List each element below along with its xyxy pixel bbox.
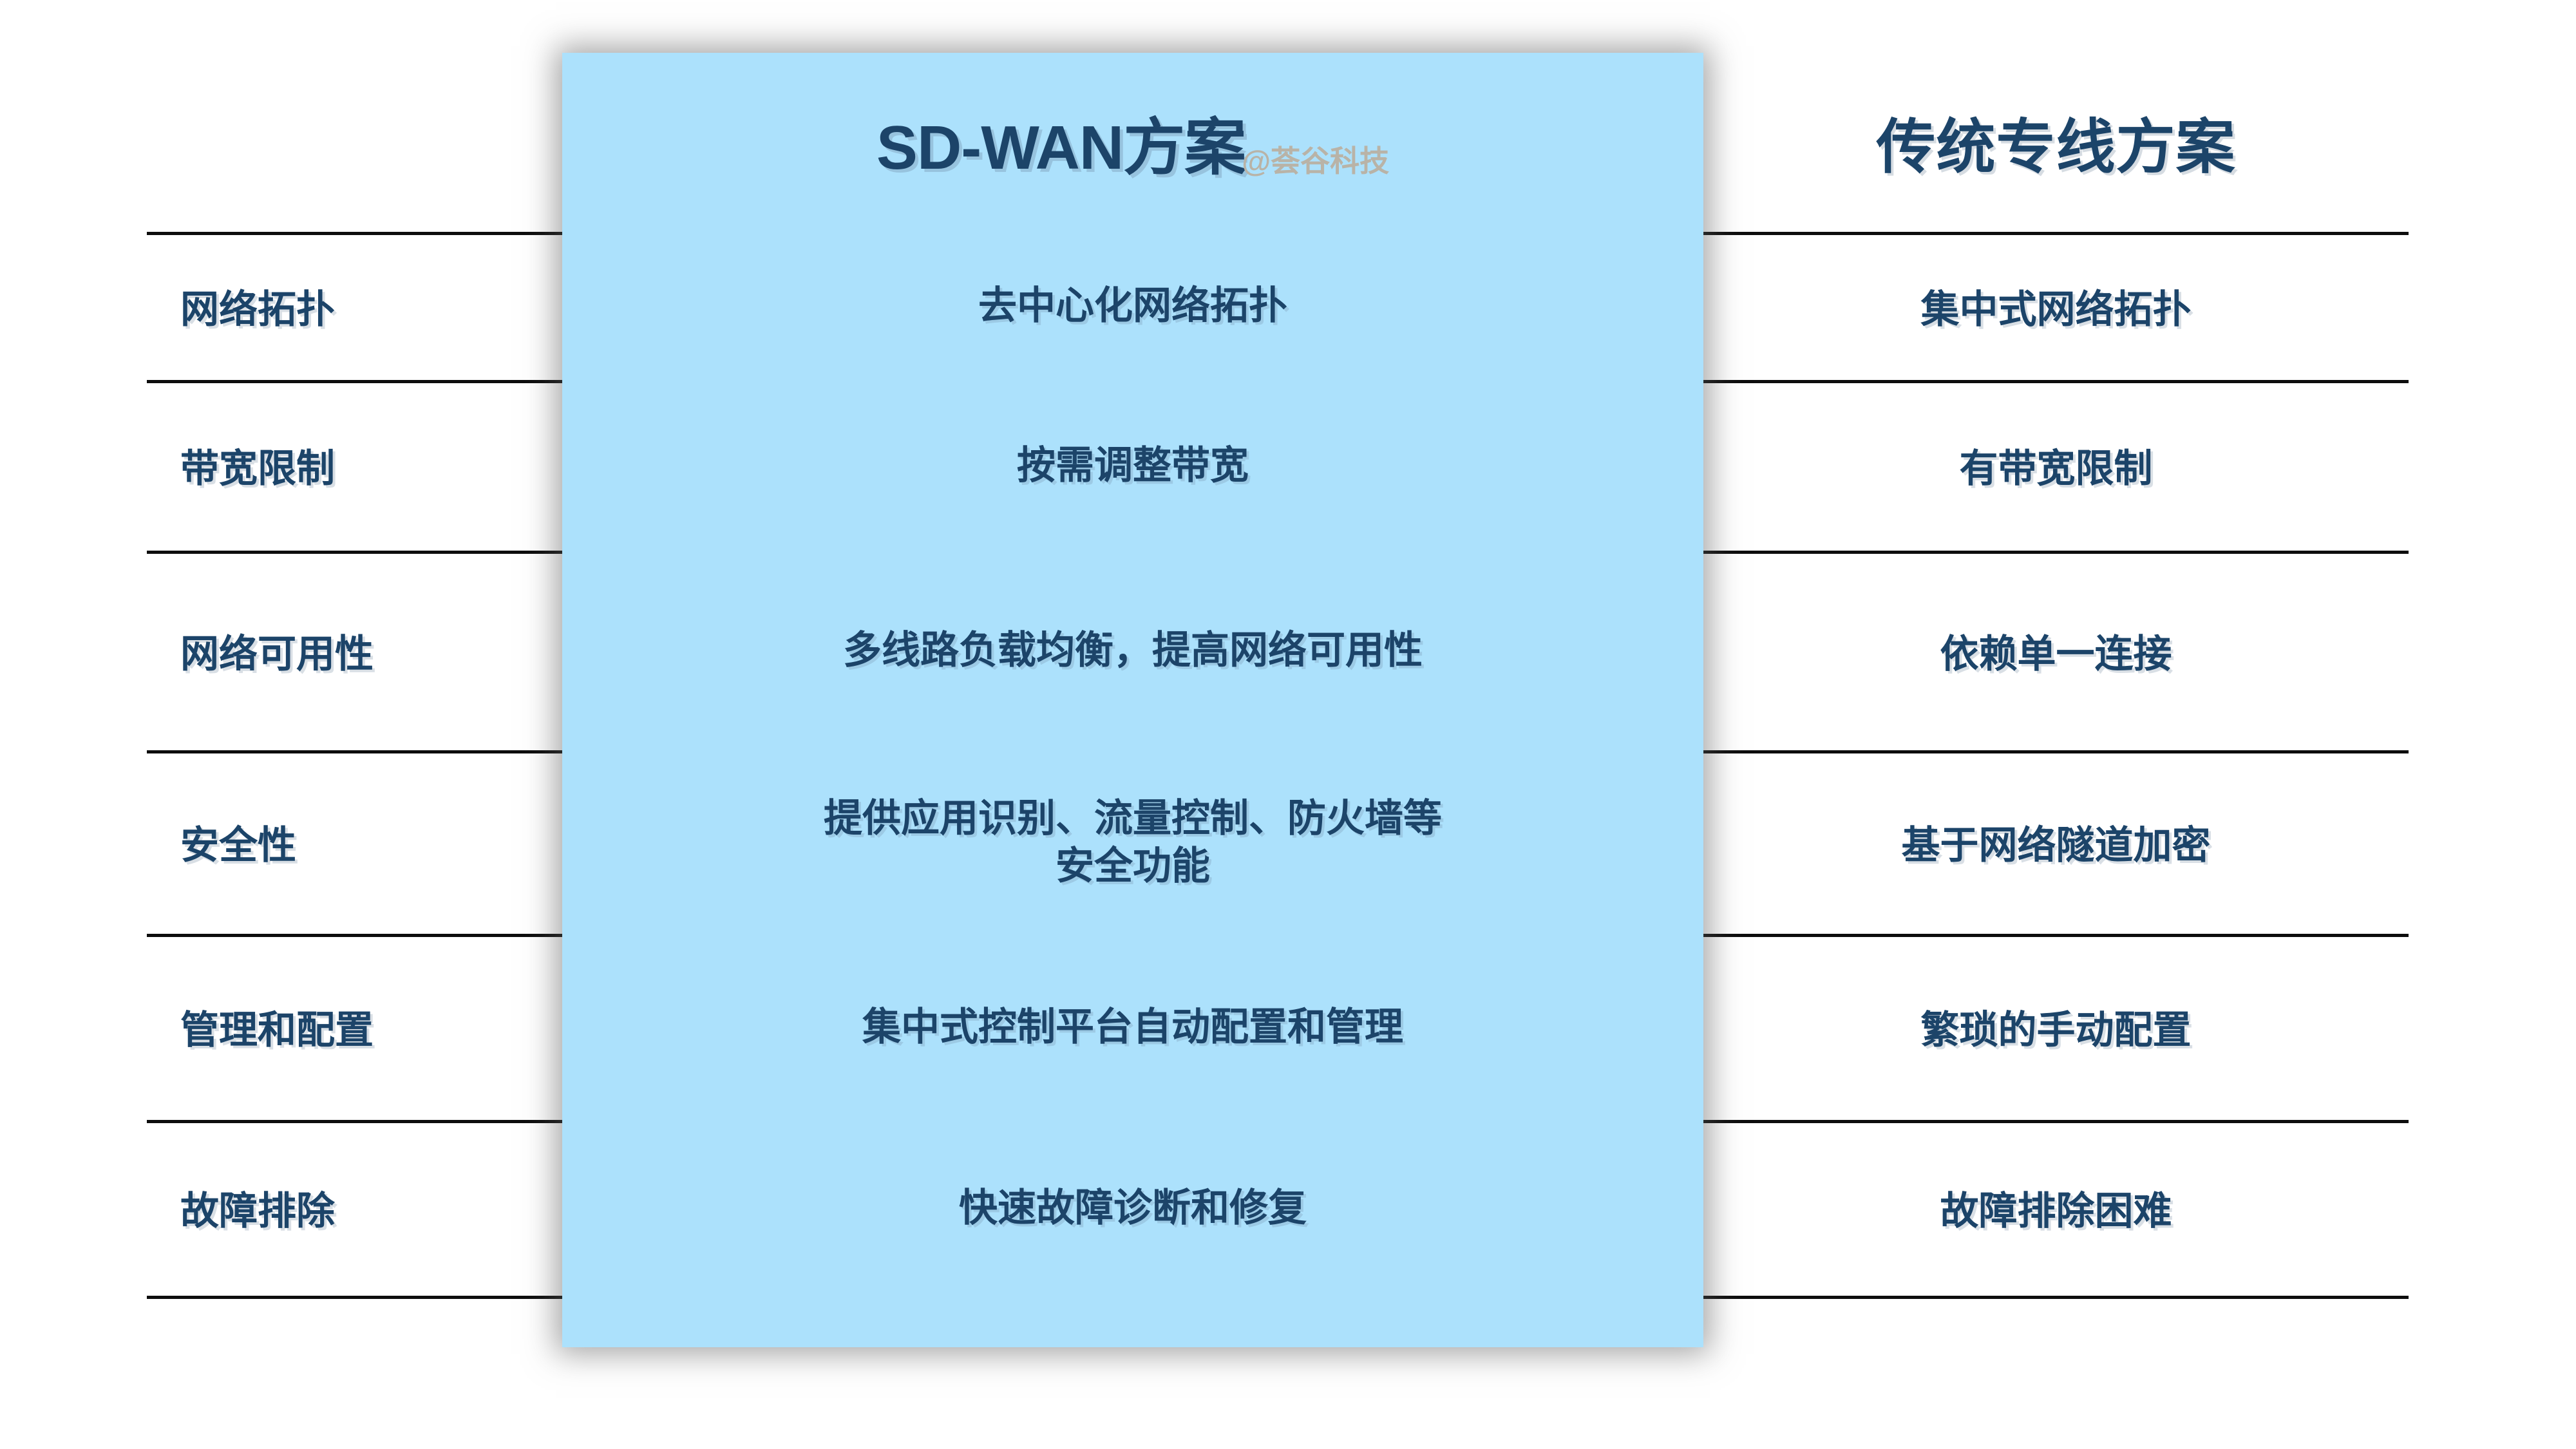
- row-label-cell: 安全性: [147, 750, 562, 934]
- row-traditional-text: 故障排除困难: [1940, 1180, 2172, 1236]
- row-traditional-cell: 依赖单一连接: [1703, 551, 2409, 750]
- header-cell-attribute: [147, 90, 562, 193]
- row-traditional-cell: 繁琐的手动配置: [1703, 934, 2409, 1120]
- row-traditional-text: 集中式网络拓扑: [1921, 278, 2192, 334]
- row-traditional-text: 繁琐的手动配置: [1921, 999, 2192, 1055]
- row-traditional-cell: 基于网络隧道加密: [1703, 750, 2409, 934]
- row-label-cell: 网络拓扑: [147, 232, 562, 380]
- row-label-text: 安全性: [180, 814, 296, 870]
- row-sdwan-cell: 集中式控制平台自动配置和管理: [562, 934, 1703, 1120]
- row-label-text: 网络拓扑: [180, 278, 335, 334]
- traditional-title-text: 传统专线方案: [1876, 99, 2235, 185]
- row-traditional-cell: 有带宽限制: [1703, 380, 2409, 551]
- row-sdwan-cell: 去中心化网络拓扑: [562, 232, 1703, 380]
- row-label-cell: 网络可用性: [147, 551, 562, 750]
- row-traditional-text: 有带宽限制: [1960, 437, 2153, 493]
- row-label-text: 管理和配置: [180, 999, 374, 1055]
- row-label-cell: 故障排除: [147, 1120, 562, 1296]
- row-sdwan-cell: 多线路负载均衡，提高网络可用性: [562, 551, 1703, 750]
- row-label-text: 故障排除: [180, 1180, 335, 1236]
- row-label-cell: 带宽限制: [147, 380, 562, 551]
- sdwan-title-group: SD-WAN方案 @荟谷科技: [876, 97, 1389, 187]
- row-sdwan-text-line2: 安全功能: [1056, 844, 1210, 887]
- row-sdwan-text: 去中心化网络拓扑: [978, 282, 1287, 329]
- row-sdwan-text: 快速故障诊断和修复: [959, 1184, 1307, 1231]
- row-sdwan-text-line1: 提供应用识别、流量控制、防火墙等: [824, 797, 1442, 840]
- row-sdwan-cell: 提供应用识别、流量控制、防火墙等 安全功能: [562, 750, 1703, 934]
- row-sdwan-text: 提供应用识别、流量控制、防火墙等 安全功能: [824, 795, 1442, 889]
- row-traditional-cell: 集中式网络拓扑: [1703, 232, 2409, 380]
- row-sdwan-text: 多线路负载均衡，提高网络可用性: [843, 627, 1423, 674]
- row-label-text: 带宽限制: [180, 437, 335, 493]
- row-sdwan-text: 按需调整带宽: [1017, 442, 1249, 489]
- row-traditional-text: 依赖单一连接: [1940, 623, 2172, 679]
- row-traditional-cell: 故障排除困难: [1703, 1120, 2409, 1296]
- sdwan-title-text: SD-WAN方案: [876, 97, 1245, 187]
- comparison-table: SD-WAN方案 @荟谷科技 传统专线方案 网络拓扑 去中心化网络拓扑 集中式网…: [0, 0, 2576, 1449]
- watermark-text: @荟谷科技: [1242, 138, 1389, 180]
- row-label-cell: 管理和配置: [147, 934, 562, 1120]
- row-label-text: 网络可用性: [180, 623, 374, 679]
- header-cell-sdwan: SD-WAN方案 @荟谷科技: [562, 90, 1703, 193]
- row-sdwan-cell: 快速故障诊断和修复: [562, 1120, 1703, 1296]
- row-traditional-text: 基于网络隧道加密: [1902, 814, 2211, 870]
- header-cell-traditional: 传统专线方案: [1703, 90, 2409, 193]
- row-sdwan-cell: 按需调整带宽: [562, 380, 1703, 551]
- row-sdwan-text: 集中式控制平台自动配置和管理: [862, 1003, 1403, 1050]
